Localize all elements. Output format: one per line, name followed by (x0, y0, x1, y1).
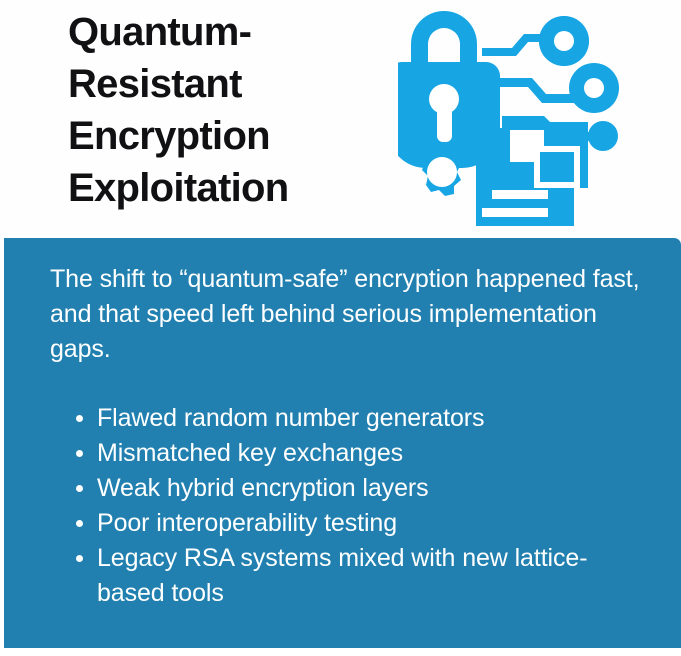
header-section: Quantum- Resistant Encryption Exploitati… (0, 0, 681, 232)
issue-list: Flawed random number generators Mismatch… (50, 401, 650, 611)
bullet-dot-icon (76, 415, 83, 422)
list-item-label: Flawed random number generators (97, 404, 484, 432)
infographic-card: Quantum- Resistant Encryption Exploitati… (0, 0, 681, 656)
page-title: Quantum- Resistant Encryption Exploitati… (68, 6, 388, 214)
bullet-dot-icon (76, 520, 83, 527)
bullet-dot-icon (76, 485, 83, 492)
list-item: Flawed random number generators (50, 401, 650, 436)
list-item: Poor interoperability testing (50, 506, 650, 541)
list-item: Mismatched key exchanges (50, 436, 650, 471)
encryption-security-icon (398, 4, 630, 232)
panel-intro-text: The shift to “quantum-safe” encryption h… (50, 262, 640, 367)
bullet-dot-icon (76, 555, 83, 562)
content-panel: The shift to “quantum-safe” encryption h… (4, 238, 681, 648)
list-item: Legacy RSA systems mixed with new lattic… (50, 541, 650, 611)
list-item-label: Poor interoperability testing (97, 509, 397, 537)
bullet-dot-icon (76, 450, 83, 457)
list-item-label: Mismatched key exchanges (97, 439, 403, 467)
list-item-label: Weak hybrid encryption layers (97, 474, 429, 502)
list-item-label: Legacy RSA systems mixed with new lattic… (97, 544, 587, 607)
list-item: Weak hybrid encryption layers (50, 471, 650, 506)
